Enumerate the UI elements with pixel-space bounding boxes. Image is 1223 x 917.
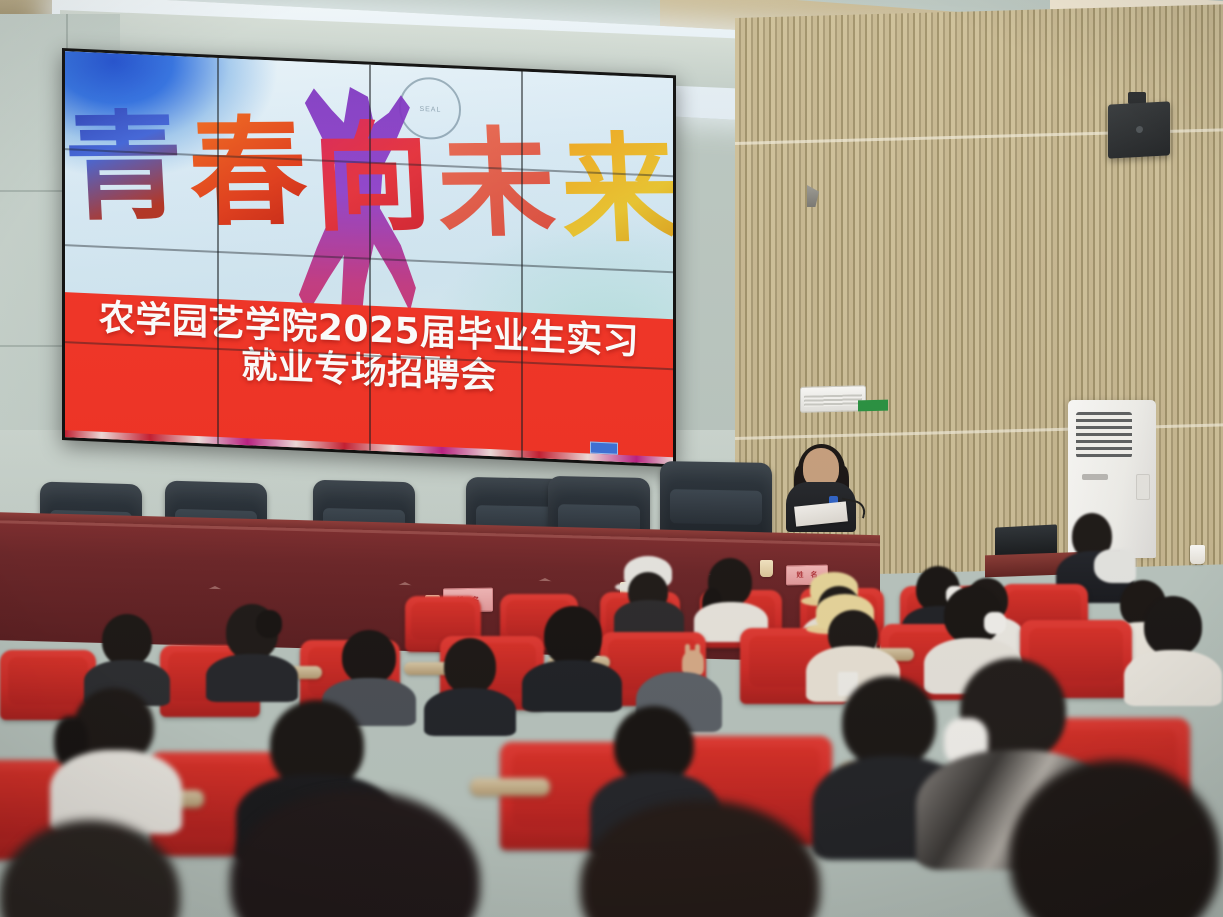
ac-vent-louvers <box>804 394 862 407</box>
audience-shoulders <box>424 688 516 736</box>
calligraphy-char-5: 来 <box>558 129 673 248</box>
led-video-wall[interactable]: SEAL 青春向未来 农学园艺学院2025届毕业生实习 就业专场招聘会 <box>62 48 676 467</box>
audience-shoulders <box>206 654 298 702</box>
calligraphy-char-1: 青 <box>65 107 192 226</box>
ac-brand-logo <box>1082 474 1108 480</box>
calligraphy-char-3: 向 <box>310 118 440 237</box>
audience-member <box>1130 596 1214 696</box>
foreground-head <box>1010 760 1220 917</box>
foreground-head <box>230 790 480 917</box>
led-wall-display-area: SEAL 青春向未来 农学园艺学院2025届毕业生实习 就业专场招聘会 <box>65 51 673 464</box>
audience-head <box>342 630 396 684</box>
audience-head <box>102 614 152 666</box>
audience-head <box>1144 596 1202 656</box>
audience-member <box>432 638 508 722</box>
ac-green-label <box>858 400 888 412</box>
audience-member <box>60 688 170 828</box>
paper-cup <box>760 560 773 577</box>
audience-head <box>444 638 496 694</box>
wall-air-conditioner <box>800 385 866 413</box>
attendee-hood <box>1094 549 1136 583</box>
audience-shoulders <box>522 660 622 712</box>
audience-member <box>618 560 678 624</box>
foreground-head <box>0 820 180 917</box>
ac-control-panel[interactable] <box>1136 474 1150 500</box>
audience-member <box>214 604 290 688</box>
audience-member <box>700 558 760 624</box>
calligraphy-char-4: 未 <box>434 124 564 243</box>
audience-member <box>90 614 162 692</box>
face-mask <box>984 612 1006 634</box>
foreground-audience-member <box>0 820 200 917</box>
audience-member <box>530 606 614 698</box>
audience-head <box>544 606 602 666</box>
foreground-head <box>580 800 820 917</box>
auditorium-scene: SEAL 青春向未来 农学园艺学院2025届毕业生实习 就业专场招聘会 <box>0 0 1223 917</box>
hair-bun <box>256 610 282 638</box>
seated-presenter <box>783 448 857 528</box>
placard-char-left: 姓 <box>797 570 804 580</box>
foreground-audience-member <box>560 800 860 917</box>
calligraphy-char-2: 春 <box>186 113 316 232</box>
audience-head <box>842 676 936 768</box>
foreground-audience-member <box>200 790 520 917</box>
paper-cup <box>1190 545 1205 564</box>
foreground-audience-member <box>1000 760 1223 917</box>
screen-tray-widget[interactable] <box>590 442 618 455</box>
wall-speaker-icon <box>1108 101 1170 158</box>
ac-floor-vent-louvers <box>1076 412 1132 458</box>
audience-shoulders <box>1124 650 1222 706</box>
